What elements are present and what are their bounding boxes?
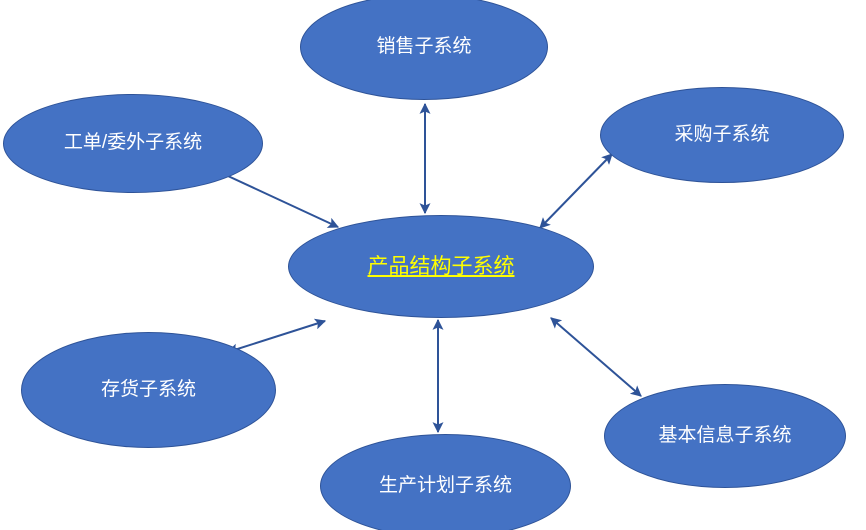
edge-center-inventory: [228, 321, 325, 352]
node-production-plan[interactable]: 生产计划子系统: [320, 434, 571, 530]
node-sales[interactable]: 销售子系统: [300, 0, 548, 100]
edge-center-purchasing: [540, 154, 612, 228]
edge-center-basic-info: [551, 318, 641, 396]
node-basic-info[interactable]: 基本信息子系统: [604, 384, 846, 488]
node-sales-label: 销售子系统: [372, 37, 475, 58]
node-product-structure-label: 产品结构子系统: [364, 255, 519, 278]
node-purchasing[interactable]: 采购子系统: [600, 87, 844, 183]
node-basic-info-label: 基本信息子系统: [654, 426, 795, 447]
diagram-canvas: 产品结构子系统销售子系统工单/委外子系统采购子系统存货子系统生产计划子系统基本信…: [0, 0, 866, 530]
node-work-order-outsourcing-label: 工单/委外子系统: [60, 133, 206, 154]
node-inventory-label: 存货子系统: [97, 380, 200, 401]
edge-center-work-order: [215, 170, 338, 227]
node-work-order-outsourcing[interactable]: 工单/委外子系统: [3, 94, 263, 193]
node-production-plan-label: 生产计划子系统: [375, 476, 516, 497]
node-purchasing-label: 采购子系统: [670, 125, 773, 146]
node-inventory[interactable]: 存货子系统: [21, 332, 276, 448]
node-product-structure[interactable]: 产品结构子系统: [288, 215, 594, 318]
